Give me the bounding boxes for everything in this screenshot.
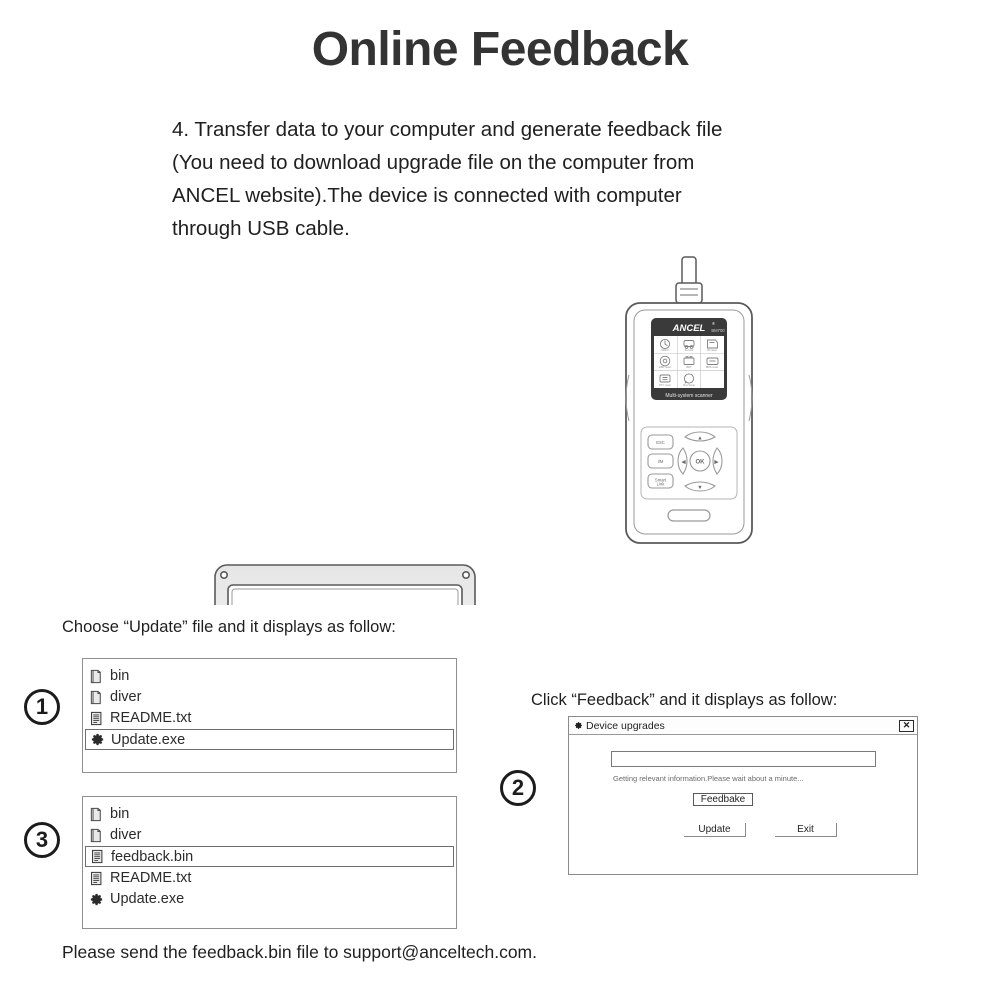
device-key-help-label2: Link (657, 482, 666, 487)
step-marker-2: 2 (500, 770, 536, 806)
folder-icon (89, 807, 104, 822)
dialog-title: Device upgrades (586, 720, 665, 732)
folder-icon (89, 690, 104, 705)
intro-line-3: ANCEL website).The device is connected w… (172, 179, 832, 212)
intro-line-1: 4. Transfer data to your computer and ge… (172, 113, 832, 146)
illustration: ANCEL ® BM700 (0, 255, 1000, 605)
file-list-item[interactable]: Update.exe (85, 729, 454, 750)
file-name-label: bin (110, 668, 129, 684)
device-model-text: BM700 (711, 328, 725, 333)
file-list-panel-3[interactable]: bindiverfeedback.binREADME.txtUpdate.exe (82, 796, 457, 929)
svg-text:Oil reset: Oil reset (707, 348, 717, 352)
folder-icon (89, 669, 104, 684)
file-list-item[interactable]: diver (83, 687, 456, 707)
device-brand-text: ANCEL (672, 323, 706, 334)
file-name-label: diver (110, 827, 141, 843)
svg-text:OBD II: OBD II (661, 348, 669, 352)
folder-icon (89, 828, 104, 843)
step-marker-1: 1 (24, 689, 60, 725)
svg-text:BMS reset: BMS reset (706, 365, 718, 369)
dialog-titlebar: Device upgrades ✕ (569, 717, 917, 735)
device-tagline-text: Multi-system scanner (665, 393, 713, 399)
document-icon (89, 711, 104, 726)
file-list-item[interactable]: README.txt (83, 708, 456, 728)
page-title: Online Feedback (0, 22, 1000, 77)
device-key-im-label: I/M (658, 459, 664, 464)
file-list-item[interactable]: bin (83, 666, 456, 686)
laptop-graphic (174, 565, 517, 605)
file-name-label: Update.exe (111, 732, 185, 748)
caption-choose-update: Choose “Update” file and it displays as … (62, 618, 396, 637)
scanner-device-graphic: ANCEL ® BM700 (626, 257, 752, 543)
intro-paragraph: 4. Transfer data to your computer and ge… (172, 113, 832, 245)
file-name-label: Update.exe (110, 891, 184, 907)
file-list-item[interactable]: README.txt (83, 868, 456, 888)
device-brand-reg: ® (712, 321, 715, 326)
file-name-label: README.txt (110, 870, 191, 886)
progress-bar (611, 751, 876, 767)
file-list-panel-1[interactable]: bindiverREADME.txtUpdate.exe (82, 658, 457, 773)
file-list-item[interactable]: bin (83, 804, 456, 824)
file-name-label: diver (110, 689, 141, 705)
svg-text:Test Setup: Test Setup (683, 383, 696, 387)
gear-icon (89, 892, 104, 907)
bottom-note: Please send the feedback.bin file to sup… (62, 942, 537, 963)
close-icon[interactable]: ✕ (899, 720, 914, 732)
intro-line-2: (You need to download upgrade file on th… (172, 146, 832, 179)
file-list-item[interactable]: diver (83, 825, 456, 845)
file-name-label: bin (110, 806, 129, 822)
exit-button[interactable]: Exit (775, 823, 837, 837)
svg-text:Service: Service (685, 348, 694, 352)
device-key-down-icon: ▼ (697, 485, 702, 491)
svg-text:EBP reset: EBP reset (659, 365, 671, 369)
file-name-label: feedback.bin (111, 849, 193, 865)
feedbake-button[interactable]: Feedbake (693, 793, 753, 806)
gear-icon-svg (574, 721, 583, 730)
file-name-label: README.txt (110, 710, 191, 726)
file-list-item[interactable]: feedback.bin (85, 846, 454, 867)
file-list-item[interactable]: Update.exe (83, 889, 456, 909)
device-key-up-icon: ▲ (697, 436, 702, 442)
dialog-status-text: Getting relevant information.Please wait… (613, 774, 804, 783)
svg-text:BRT: BRT (686, 365, 692, 369)
svg-text:DTC reset: DTC reset (659, 383, 671, 387)
gear-icon (574, 717, 583, 735)
document-icon (89, 871, 104, 886)
caption-click-feedback: Click “Feedback” and it displays as foll… (531, 691, 837, 710)
gear-icon (90, 732, 105, 747)
page-root: Online Feedback 4. Transfer data to your… (0, 0, 1000, 1000)
step-marker-3: 3 (24, 822, 60, 858)
device-key-ok-label: OK (696, 460, 706, 466)
intro-line-4: through USB cable. (172, 212, 832, 245)
document-icon (90, 849, 105, 864)
device-upgrades-dialog: Device upgrades ✕ Getting relevant infor… (568, 716, 918, 875)
illustration-svg: ANCEL ® BM700 (0, 255, 1000, 605)
update-button[interactable]: Update (684, 823, 746, 837)
device-key-esc-label: ESC (656, 440, 665, 445)
